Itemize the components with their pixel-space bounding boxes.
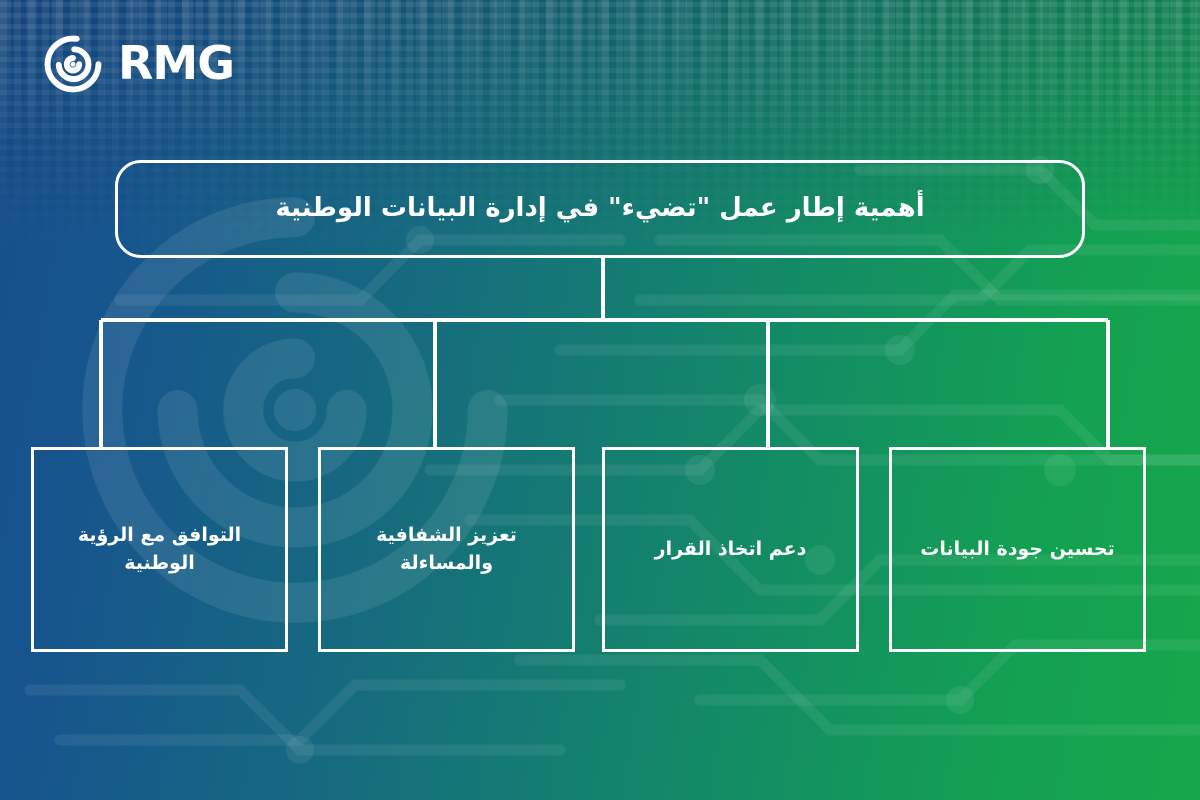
diagram-node-label: تعزيز الشفافية والمساءلة [337,522,556,577]
diagram-node-4: تحسين جودة البيانات [889,447,1146,652]
diagram-title-card: أهمية إطار عمل "تضيء" في إدارة البيانات … [115,160,1085,258]
diagram-node-label: تحسين جودة البيانات [920,536,1114,564]
diagram-node-1: التوافق مع الرؤية الوطنية [31,447,288,652]
diagram-node-label: دعم اتخاذ القرار [655,536,807,564]
diagram-node-label: التوافق مع الرؤية الوطنية [50,522,269,577]
diagram-title: أهمية إطار عمل "تضيء" في إدارة البيانات … [275,191,924,226]
diagram-node-3: دعم اتخاذ القرار [602,447,859,652]
connector-lines [0,0,1200,800]
diagram-node-2: تعزيز الشفافية والمساءلة [318,447,575,652]
infographic-canvas: RMG أهمية إطار عمل "تضيء" في إدارة البيا… [0,0,1200,800]
